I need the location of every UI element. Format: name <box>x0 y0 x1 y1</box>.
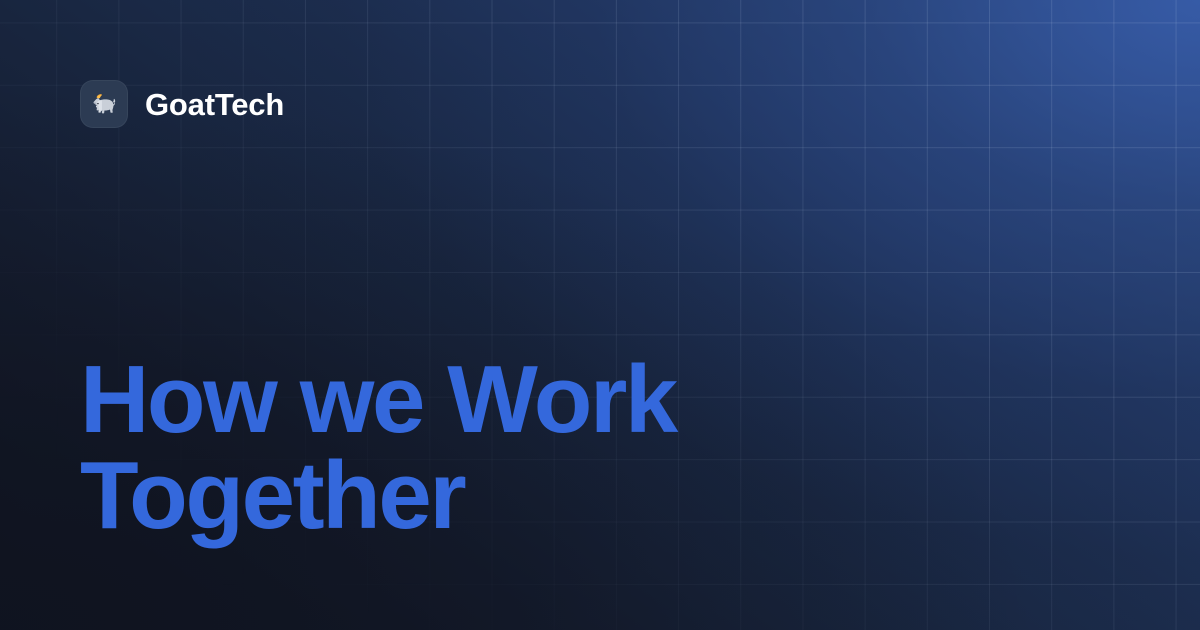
brand-logo-badge <box>80 80 128 128</box>
brand-lockup: GoatTech <box>80 80 284 128</box>
card-content: GoatTech How we Work Together <box>0 0 1200 630</box>
goat-icon <box>88 88 120 120</box>
brand-name: GoatTech <box>145 89 284 120</box>
page-title: How we Work Together <box>80 352 900 544</box>
og-card: GoatTech How we Work Together <box>0 0 1200 630</box>
